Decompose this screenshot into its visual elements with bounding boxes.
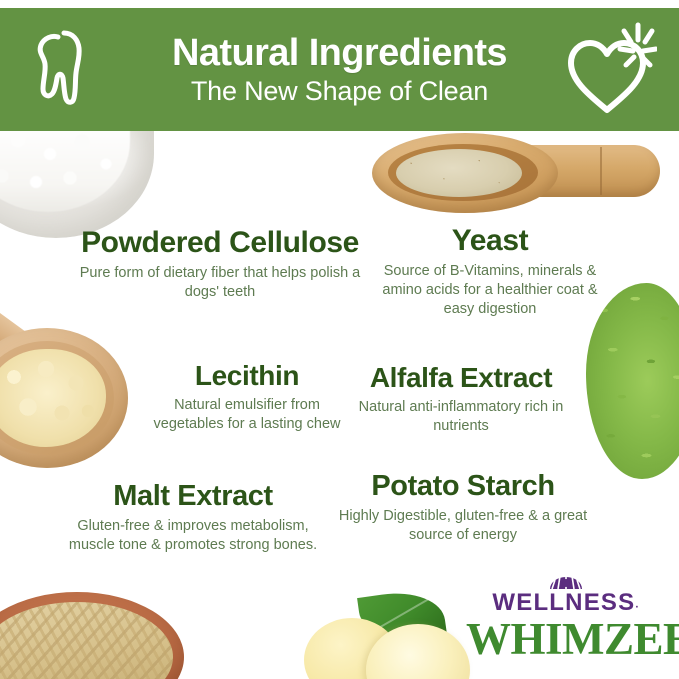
ingredient-title: Yeast (368, 226, 612, 257)
ingredient-description: Source of B-Vitamins, minerals & amino a… (368, 262, 612, 319)
ingredient-description: Natural emulsifier from vegetables for a… (150, 396, 344, 434)
sunburst-badge-icon (549, 568, 583, 590)
ingredient-description: Highly Digestible, gluten-free & a great… (330, 507, 596, 545)
barley-bowl-photo (0, 592, 184, 679)
header-titles: Natural Ingredients The New Shape of Cle… (172, 34, 507, 105)
page-subtitle: The New Shape of Clean (172, 78, 507, 105)
ingredient-alfalfa-extract: Alfalfa Extract Natural anti-inflammator… (332, 364, 590, 436)
infographic-page: Natural Ingredients The New Shape of Cle… (0, 0, 679, 679)
page-title: Natural Ingredients (172, 34, 507, 72)
logo-wellness-text: WELLNESS (492, 589, 635, 616)
ingredient-yeast: Yeast Source of B-Vitamins, minerals & a… (368, 226, 612, 319)
logo-whimzees-wordmark: WHIMZEES. (466, 617, 666, 662)
ingredient-title: Lecithin (150, 362, 344, 391)
heart-sparkle-icon (561, 20, 657, 125)
scoop-bowl (372, 133, 558, 213)
potatoes-photo (318, 596, 488, 679)
ingredient-description: Pure form of dietary fiber that helps po… (74, 264, 366, 302)
logo-whimzees-text: WHIMZEES (466, 614, 679, 664)
ingredient-title: Potato Starch (330, 472, 596, 502)
wooden-spoon-lecithin-photo (0, 276, 142, 472)
ingredient-title: Malt Extract (62, 482, 324, 512)
yeast-granules (396, 149, 522, 197)
spoon-bowl (0, 328, 128, 468)
ingredient-malt-extract: Malt Extract Gluten-free & improves meta… (62, 482, 324, 555)
lecithin-powder (0, 349, 106, 447)
ingredient-powdered-cellulose: Powdered Cellulose Pure form of dietary … (74, 228, 366, 302)
header-banner: Natural Ingredients The New Shape of Cle… (0, 8, 679, 131)
ingredient-description: Natural anti-inflammatory rich in nutrie… (332, 398, 590, 436)
tooth-icon (34, 26, 98, 119)
wooden-scoop-yeast-photo (372, 131, 660, 223)
spoon-inner (0, 341, 114, 455)
brand-logo: WELLNESS. WHIMZEES. (466, 568, 666, 662)
logo-wellness-wordmark: WELLNESS. (466, 591, 666, 615)
ingredient-title: Powdered Cellulose (74, 228, 366, 259)
scoop-inner (388, 144, 538, 201)
logo-wellness-mark: . (635, 599, 639, 611)
ingredient-potato-starch: Potato Starch Highly Digestible, gluten-… (330, 472, 596, 545)
ingredient-title: Alfalfa Extract (332, 364, 590, 393)
ingredient-lecithin: Lecithin Natural emulsifier from vegetab… (150, 362, 344, 434)
white-powder-bowl-photo (0, 126, 154, 238)
ingredient-description: Gluten-free & improves metabolism, muscl… (62, 517, 324, 555)
